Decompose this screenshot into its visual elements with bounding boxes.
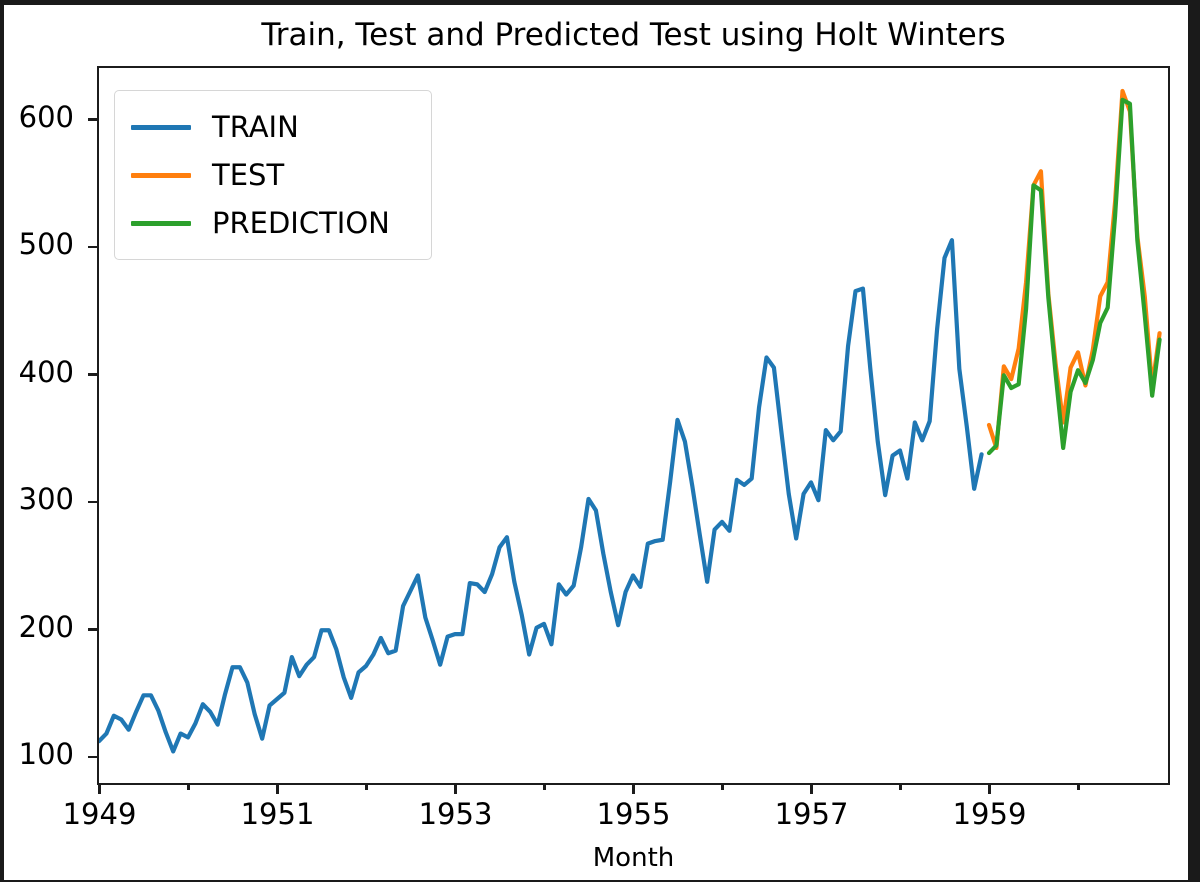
chart-legend: TRAINTESTPREDICTION <box>114 90 432 260</box>
y-tick-label: 500 <box>0 227 74 261</box>
y-tick-label: 100 <box>0 737 74 771</box>
y-tick-mark <box>88 756 97 759</box>
legend-item-train[interactable]: TRAIN <box>115 103 431 151</box>
x-tick-mark <box>276 785 279 794</box>
y-tick-label: 600 <box>0 100 74 134</box>
x-tick-mark <box>454 785 457 794</box>
y-tick-mark <box>88 246 97 249</box>
series-line-prediction <box>989 100 1160 453</box>
x-tick-label: 1957 <box>775 797 849 831</box>
x-tick-mark <box>810 785 813 794</box>
y-tick-mark <box>88 628 97 631</box>
x-tick-label: 1959 <box>953 797 1027 831</box>
y-tick-label: 400 <box>0 355 74 389</box>
x-tick-label: 1953 <box>419 797 493 831</box>
x-tick-mark-minor <box>899 785 902 790</box>
x-tick-mark <box>988 785 991 794</box>
legend-label: TEST <box>212 161 284 190</box>
legend-item-prediction[interactable]: PREDICTION <box>115 199 431 247</box>
legend-label: TRAIN <box>212 113 299 142</box>
matplotlib-figure: Train, Test and Predicted Test using Hol… <box>4 5 1188 880</box>
y-tick-mark <box>88 118 97 121</box>
legend-swatch-icon <box>131 221 191 226</box>
x-tick-mark <box>632 785 635 794</box>
legend-item-test[interactable]: TEST <box>115 151 431 199</box>
x-tick-mark-minor <box>721 785 724 790</box>
chart-title: Train, Test and Predicted Test using Hol… <box>97 17 1170 53</box>
legend-swatch-icon <box>131 173 191 178</box>
x-axis-label: Month <box>97 843 1170 873</box>
y-tick-mark <box>88 373 97 376</box>
x-tick-mark-minor <box>1077 785 1080 790</box>
x-tick-label: 1949 <box>63 797 137 831</box>
legend-label: PREDICTION <box>212 209 390 238</box>
y-tick-mark <box>88 501 97 504</box>
x-tick-mark-minor <box>365 785 368 790</box>
x-tick-mark-minor <box>187 785 190 790</box>
legend-swatch-icon <box>131 125 191 130</box>
y-tick-label: 200 <box>0 610 74 644</box>
y-tick-label: 300 <box>0 482 74 516</box>
x-tick-label: 1955 <box>597 797 671 831</box>
series-line-train <box>99 240 982 751</box>
x-tick-mark-minor <box>543 785 546 790</box>
x-tick-label: 1951 <box>241 797 315 831</box>
chart-screenshot: Train, Test and Predicted Test using Hol… <box>0 0 1200 882</box>
x-tick-mark <box>98 785 101 794</box>
